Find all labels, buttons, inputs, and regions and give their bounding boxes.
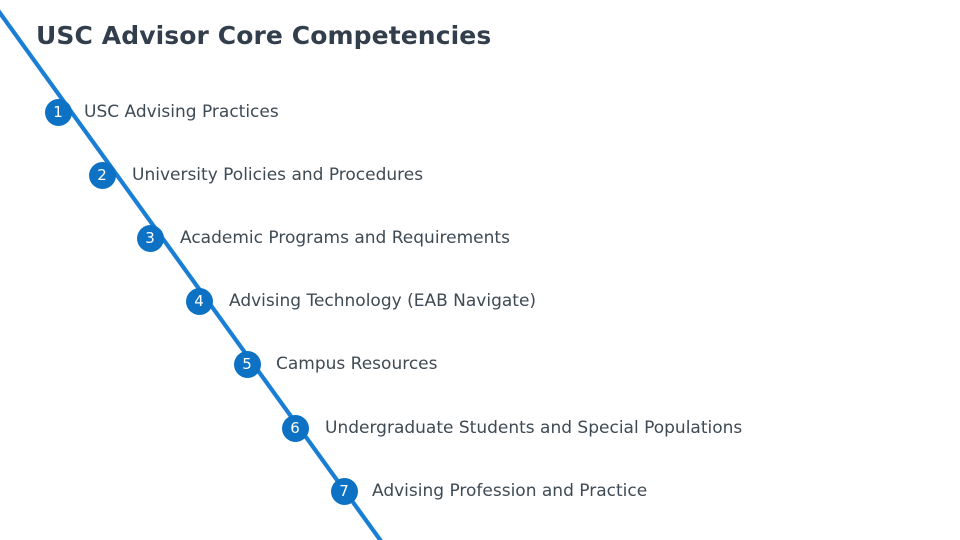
competency-item[interactable]: 7Advising Profession and Practice — [331, 476, 648, 506]
step-number-badge: 1 — [45, 99, 72, 126]
page-title: USC Advisor Core Competencies — [36, 21, 491, 51]
slide-canvas: USC Advisor Core Competencies 1USC Advis… — [0, 0, 960, 540]
competency-item[interactable]: 5Campus Resources — [234, 349, 438, 379]
competency-label: Advising Profession and Practice — [372, 480, 647, 502]
competency-item[interactable]: 4Advising Technology (EAB Navigate) — [186, 286, 537, 316]
competency-label: Campus Resources — [276, 353, 438, 375]
step-number-badge: 6 — [282, 415, 309, 442]
competency-label: University Policies and Procedures — [132, 164, 423, 186]
competency-label: Academic Programs and Requirements — [180, 227, 510, 249]
competency-item[interactable]: 1USC Advising Practices — [45, 97, 279, 127]
competency-label: Advising Technology (EAB Navigate) — [229, 290, 536, 312]
diagonal-connector-line — [0, 0, 960, 540]
step-number-badge: 3 — [137, 225, 164, 252]
step-number-badge: 2 — [89, 162, 116, 189]
step-number-badge: 5 — [234, 351, 261, 378]
step-number-badge: 7 — [331, 478, 358, 505]
competency-item[interactable]: 3Academic Programs and Requirements — [137, 223, 510, 253]
competency-item[interactable]: 2University Policies and Procedures — [89, 160, 424, 190]
competency-label: Undergraduate Students and Special Popul… — [325, 417, 742, 439]
competency-item[interactable]: 6Undergraduate Students and Special Popu… — [282, 413, 743, 443]
step-number-badge: 4 — [186, 288, 213, 315]
competency-label: USC Advising Practices — [84, 101, 279, 123]
